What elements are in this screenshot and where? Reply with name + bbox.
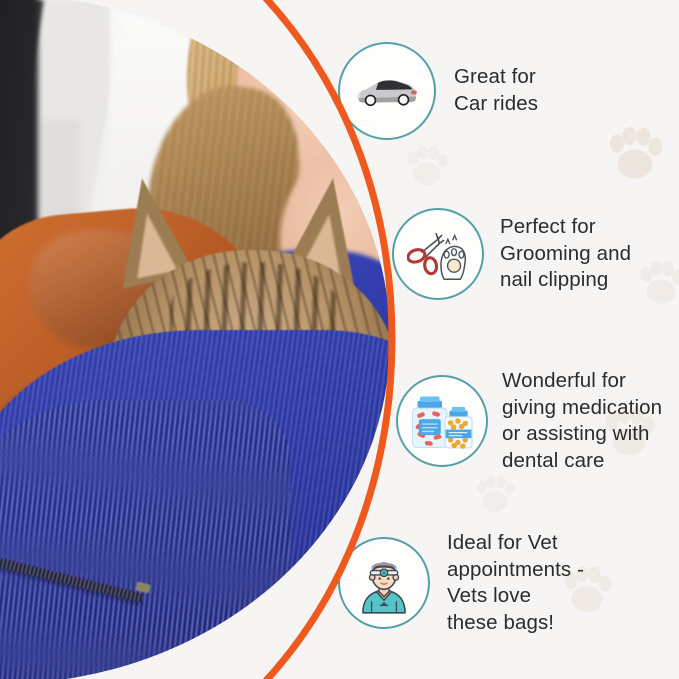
- feature-label-grooming: Perfect for Grooming and nail clipping: [500, 214, 631, 294]
- car-icon: [354, 68, 420, 114]
- feature-label-vet-visits: Ideal for Vet appointments - Vets love t…: [447, 530, 584, 637]
- feature-item-vet-visits: Ideal for Vet appointments - Vets love t…: [338, 530, 584, 637]
- feature-list: Great for Car rides: [0, 0, 679, 679]
- feature-badge-grooming: [392, 208, 484, 300]
- veterinarian-icon: [353, 552, 415, 614]
- feature-badge-vet-visits: [338, 537, 430, 629]
- product-infographic: Great for Car rides: [0, 0, 679, 679]
- feature-label-medication: Wonderful for giving medication or assis…: [502, 368, 662, 475]
- feature-item-car-rides: Great for Car rides: [338, 42, 538, 140]
- feature-badge-medication: [396, 375, 488, 467]
- feature-badge-car-rides: [338, 42, 436, 140]
- feature-item-medication: Wonderful for giving medication or assis…: [396, 368, 662, 475]
- pill-bottles-icon: [410, 391, 474, 451]
- feature-label-car-rides: Great for Car rides: [454, 64, 538, 117]
- nail-clippers-paw-icon: [407, 225, 469, 283]
- feature-item-grooming: Perfect for Grooming and nail clipping: [392, 208, 631, 300]
